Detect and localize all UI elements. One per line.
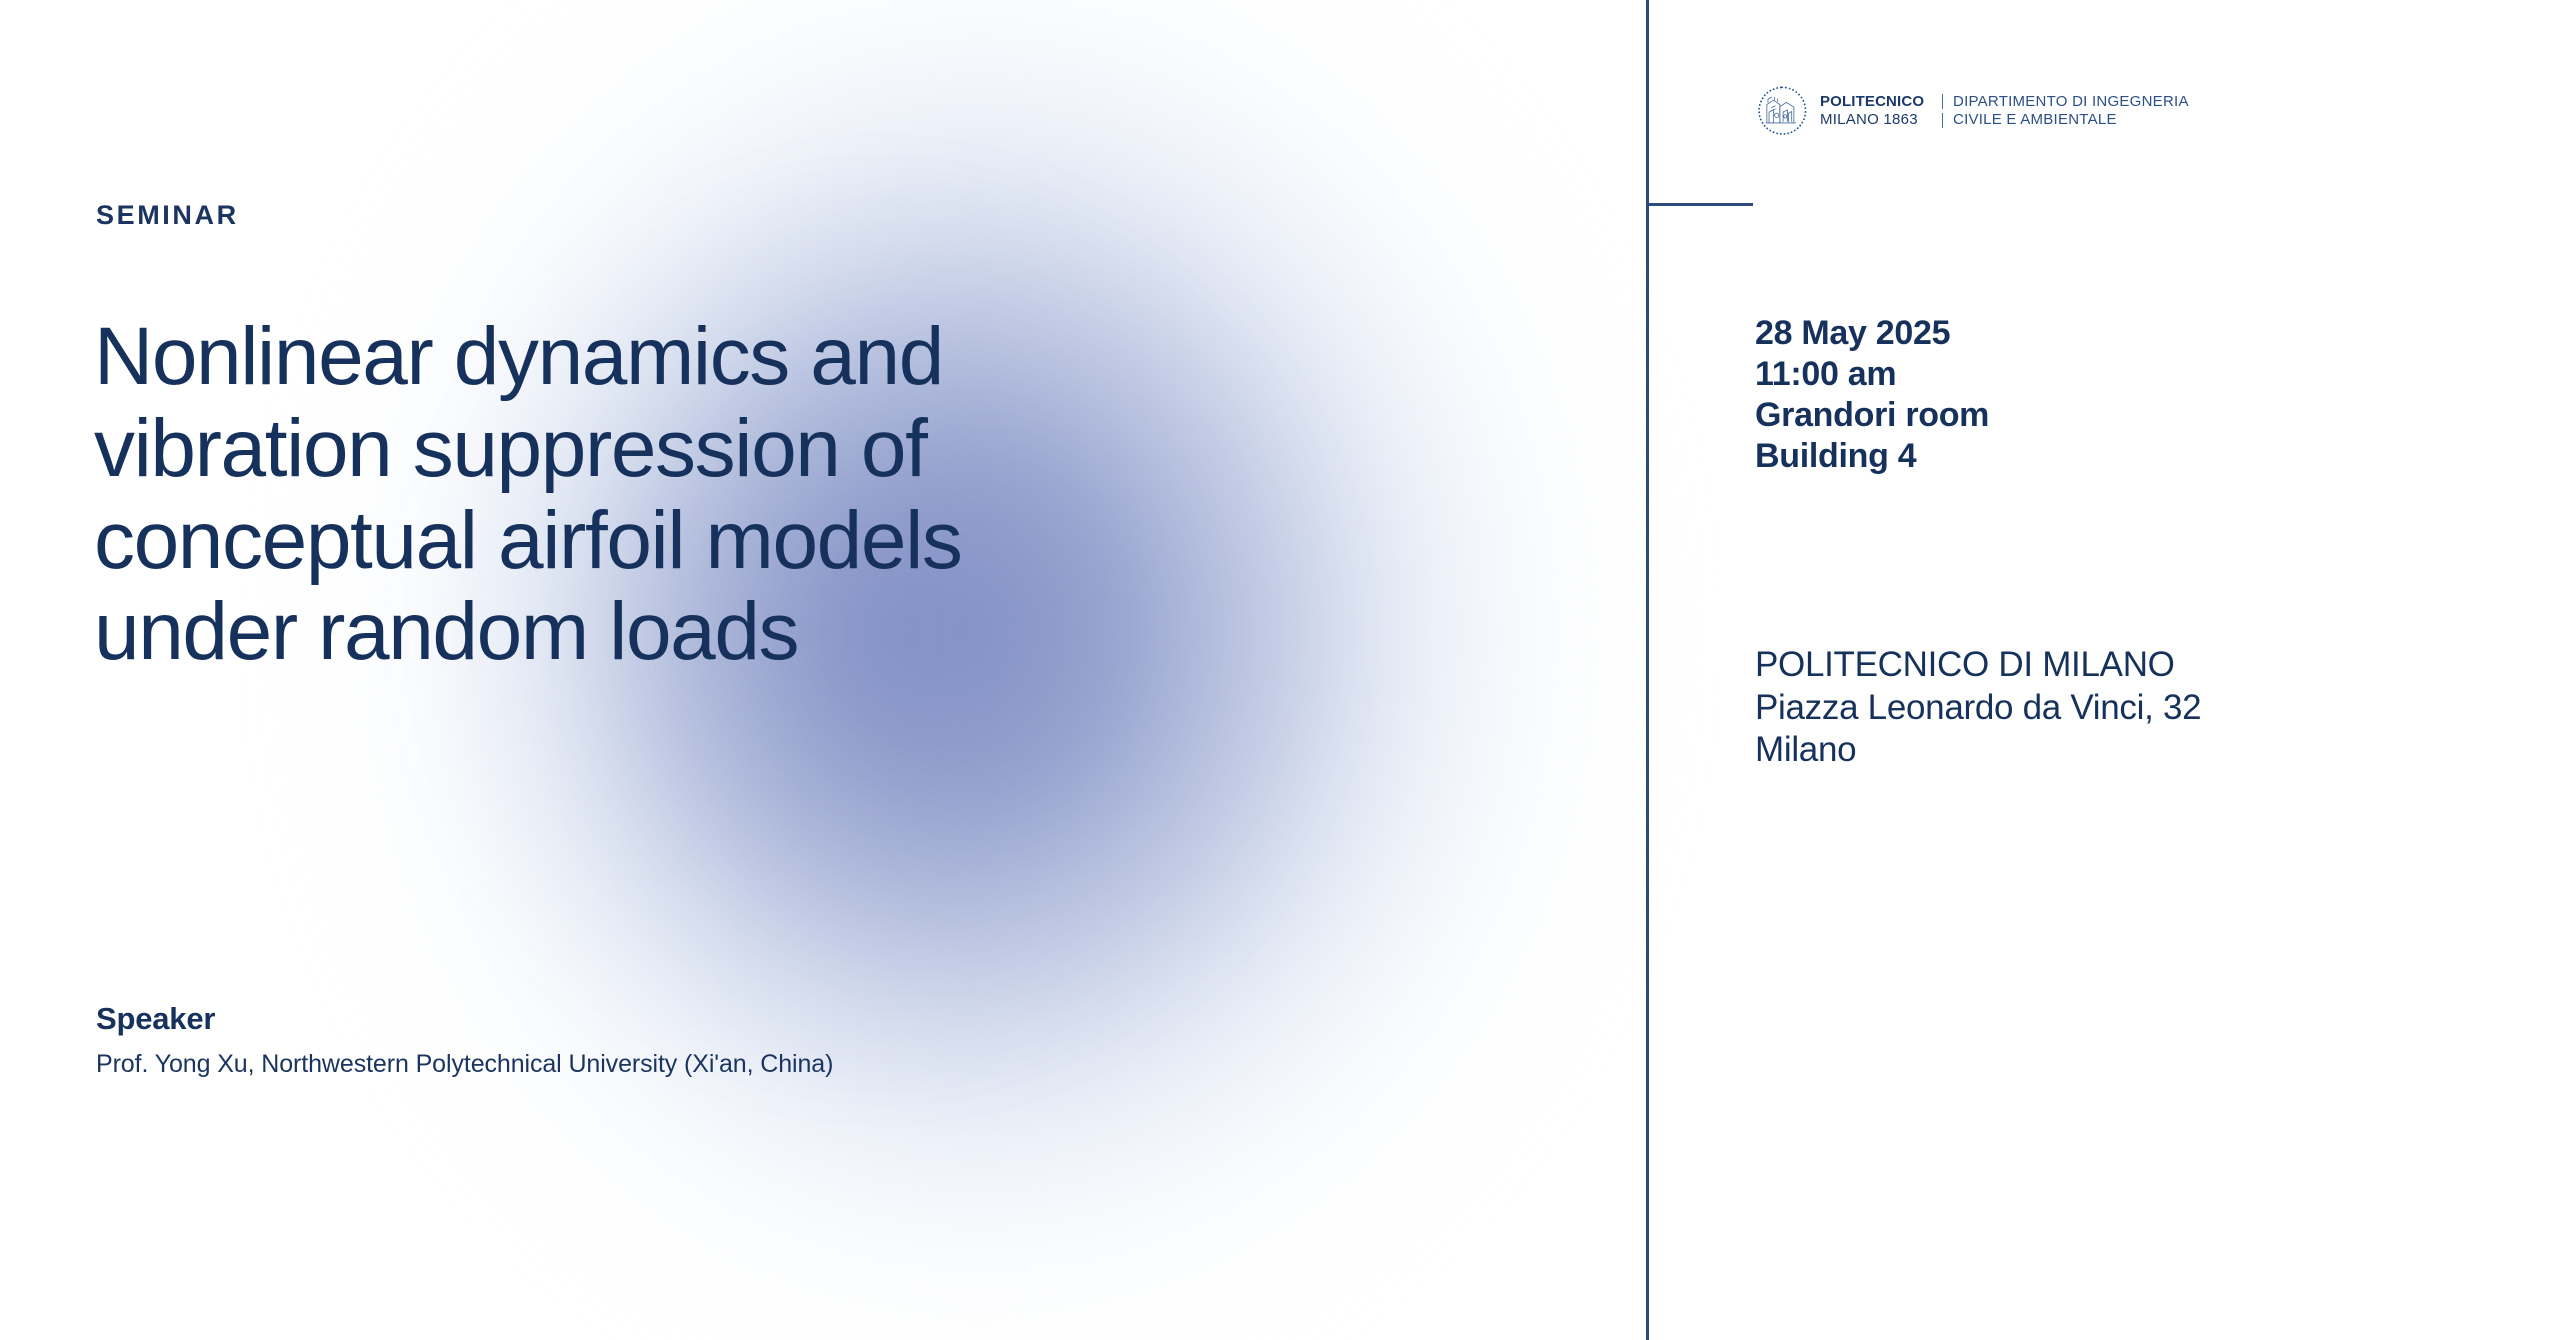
- left-column: SEMINAR Nonlinear dynamics and vibration…: [0, 0, 1646, 1340]
- venue-institution: POLITECNICO DI MILANO: [1755, 644, 2201, 687]
- event-time: 11:00 am: [1755, 354, 1989, 395]
- logo-department-line-1: DIPARTIMENTO DI INGEGNERIA: [1953, 93, 2189, 111]
- logo-wordmark: POLITECNICO DIPARTIMENTO DI INGEGNERIA M…: [1820, 93, 2189, 130]
- logo-politecnico: POLITECNICO: [1820, 93, 1942, 111]
- right-column: POLITECNICO DIPARTIMENTO DI INGEGNERIA M…: [1649, 0, 2560, 1340]
- politecnico-logo: POLITECNICO DIPARTIMENTO DI INGEGNERIA M…: [1755, 84, 2189, 138]
- speaker-name: Prof. Yong Xu, Northwestern Polytechnica…: [96, 1048, 1496, 1081]
- event-room: Grandori room: [1755, 395, 1989, 436]
- title-line-2: vibration suppression of: [94, 403, 1594, 495]
- venue-city: Milano: [1755, 729, 2201, 772]
- seminar-poster: SEMINAR Nonlinear dynamics and vibration…: [0, 0, 2560, 1340]
- logo-divider-bar: [1942, 94, 1943, 109]
- page-title: Nonlinear dynamics and vibration suppres…: [94, 311, 1594, 678]
- venue-address: POLITECNICO DI MILANO Piazza Leonardo da…: [1755, 644, 2201, 772]
- speaker-label: Speaker: [96, 1000, 1496, 1039]
- speaker-block: Speaker Prof. Yong Xu, Northwestern Poly…: [96, 1000, 1496, 1080]
- logo-department-line-2: CIVILE E AMBIENTALE: [1953, 111, 2117, 129]
- title-line-4: under random loads: [94, 586, 1594, 678]
- title-line-3: conceptual airfoil models: [94, 495, 1594, 587]
- title-line-1: Nonlinear dynamics and: [94, 311, 1594, 403]
- venue-street: Piazza Leonardo da Vinci, 32: [1755, 687, 2201, 730]
- logo-row-2: MILANO 1863 CIVILE E AMBIENTALE: [1820, 111, 2189, 129]
- politecnico-seal-icon: [1755, 84, 1809, 138]
- logo-divider-bar-2: [1942, 113, 1943, 128]
- logo-row-1: POLITECNICO DIPARTIMENTO DI INGEGNERIA: [1820, 93, 2189, 111]
- event-details: 28 May 2025 11:00 am Grandori room Build…: [1755, 313, 1989, 478]
- event-date: 28 May 2025: [1755, 313, 1989, 354]
- event-building: Building 4: [1755, 436, 1989, 477]
- eyebrow-label: SEMINAR: [96, 202, 239, 229]
- logo-milano-1863: MILANO 1863: [1820, 111, 1942, 129]
